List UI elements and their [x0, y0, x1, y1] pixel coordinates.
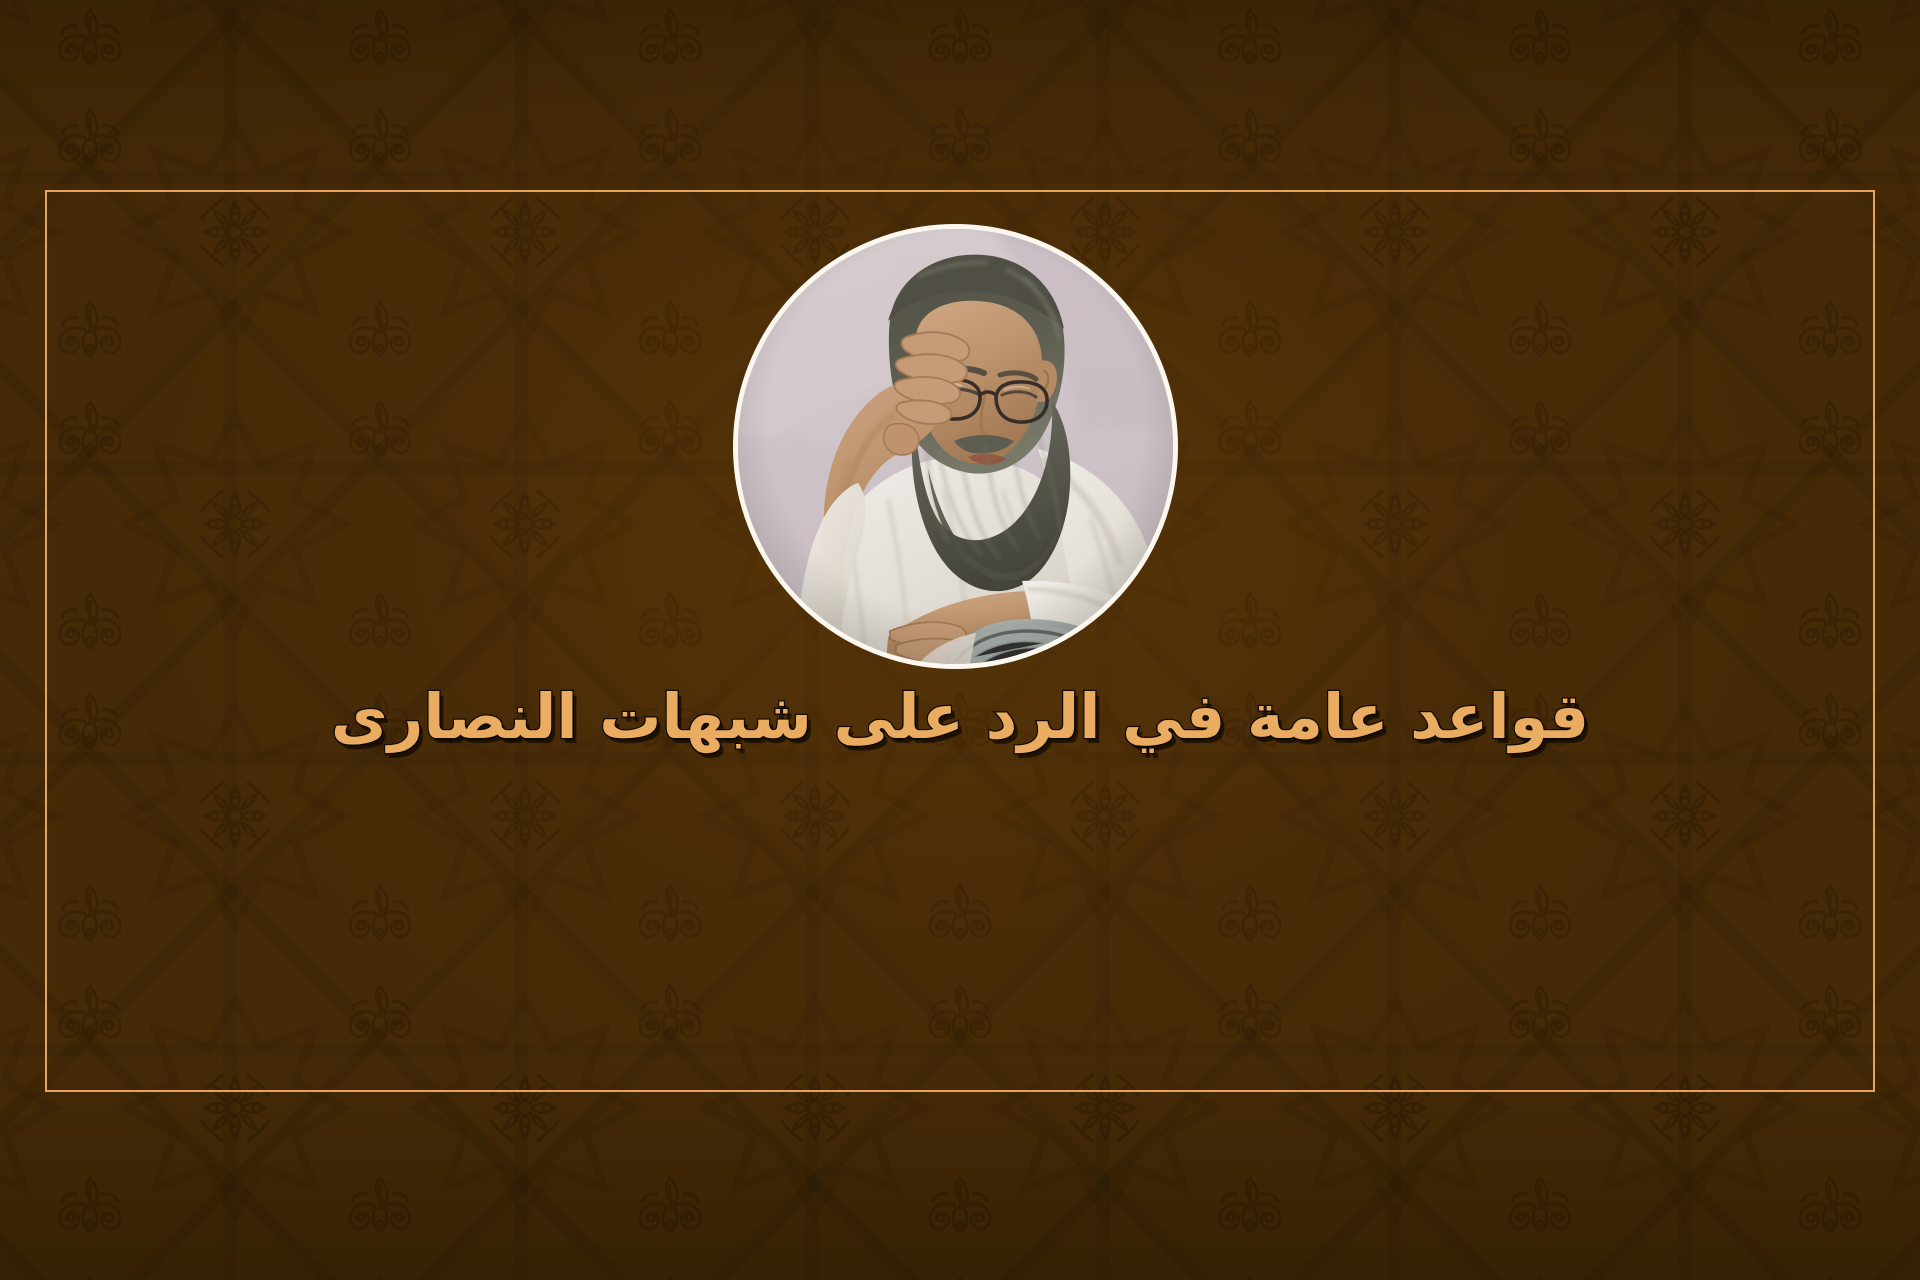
portrait-image — [738, 229, 1173, 664]
speaker-portrait — [733, 224, 1178, 669]
slide-title: قواعد عامة في الرد على شبهات النصارى — [0, 684, 1920, 751]
slide-canvas: قواعد عامة في الرد على شبهات النصارى — [0, 0, 1920, 1280]
